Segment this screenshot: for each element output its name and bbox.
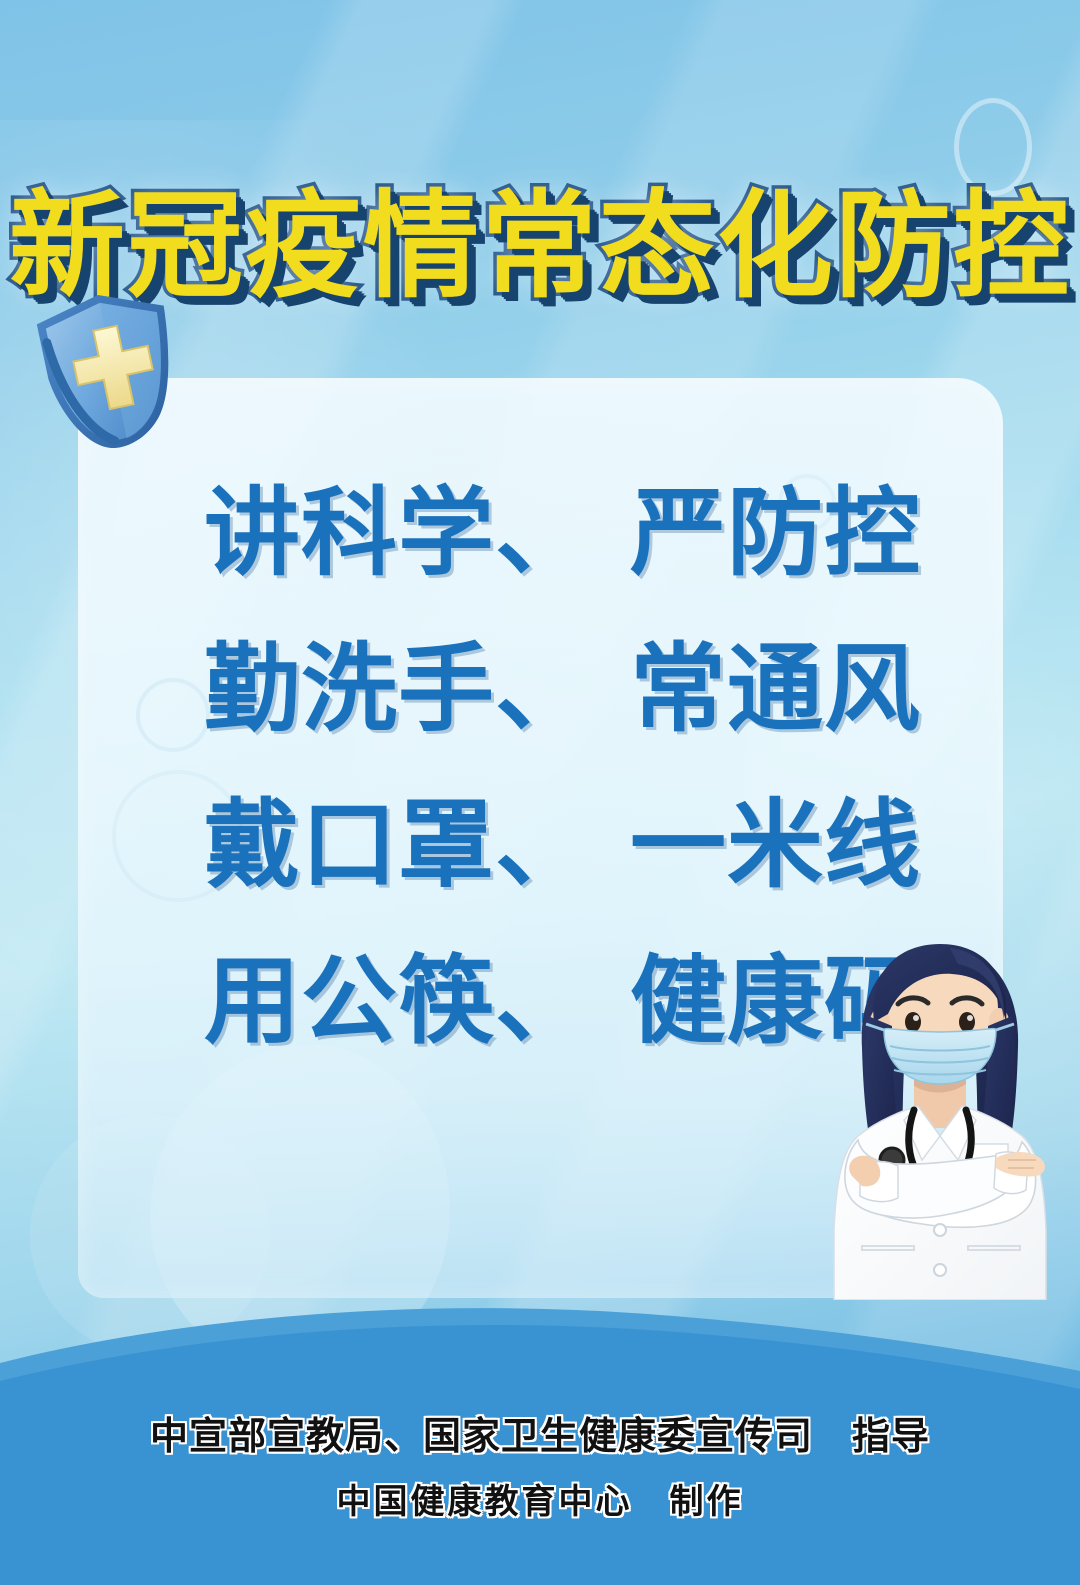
slogan-separator: 、 — [495, 611, 592, 750]
slogan-left-phrase: 勤洗手 — [204, 611, 495, 750]
slogan-separator: 、 — [495, 767, 592, 906]
slogan-line: 戴口罩 、 一米线 — [78, 767, 1003, 923]
slogan-left-phrase: 讲科学 — [204, 455, 495, 594]
slogan-right-phrase: 常通风 — [630, 611, 921, 750]
slogan-line: 讲科学 、 严防控 — [78, 455, 1003, 611]
credit-produced-by: 中国健康教育中心 制作 — [0, 1474, 1080, 1523]
slogan-left-phrase: 用公筷 — [204, 923, 495, 1062]
bottom-wave-band — [0, 1285, 1080, 1585]
slogan-left-phrase: 戴口罩 — [204, 767, 495, 906]
slogan-right-phrase: 一米线 — [630, 767, 921, 906]
slogan-right-phrase: 严防控 — [630, 455, 921, 594]
bubble-ring-icon — [954, 98, 1032, 196]
slogan-line: 勤洗手 、 常通风 — [78, 611, 1003, 767]
credit-directed-by: 中宣部宣教局、国家卫生健康委宣传司 指导 — [0, 1405, 1080, 1460]
slogan-separator: 、 — [495, 455, 592, 594]
health-poster: 新冠疫情常态化防控 — [0, 0, 1080, 1585]
slogan-separator: 、 — [495, 923, 592, 1062]
footer-credits: 中宣部宣教局、国家卫生健康委宣传司 指导 中国健康教育中心 制作 — [0, 1405, 1080, 1523]
shield-with-cross-icon — [20, 274, 201, 467]
female-doctor-illustration — [800, 930, 1080, 1300]
